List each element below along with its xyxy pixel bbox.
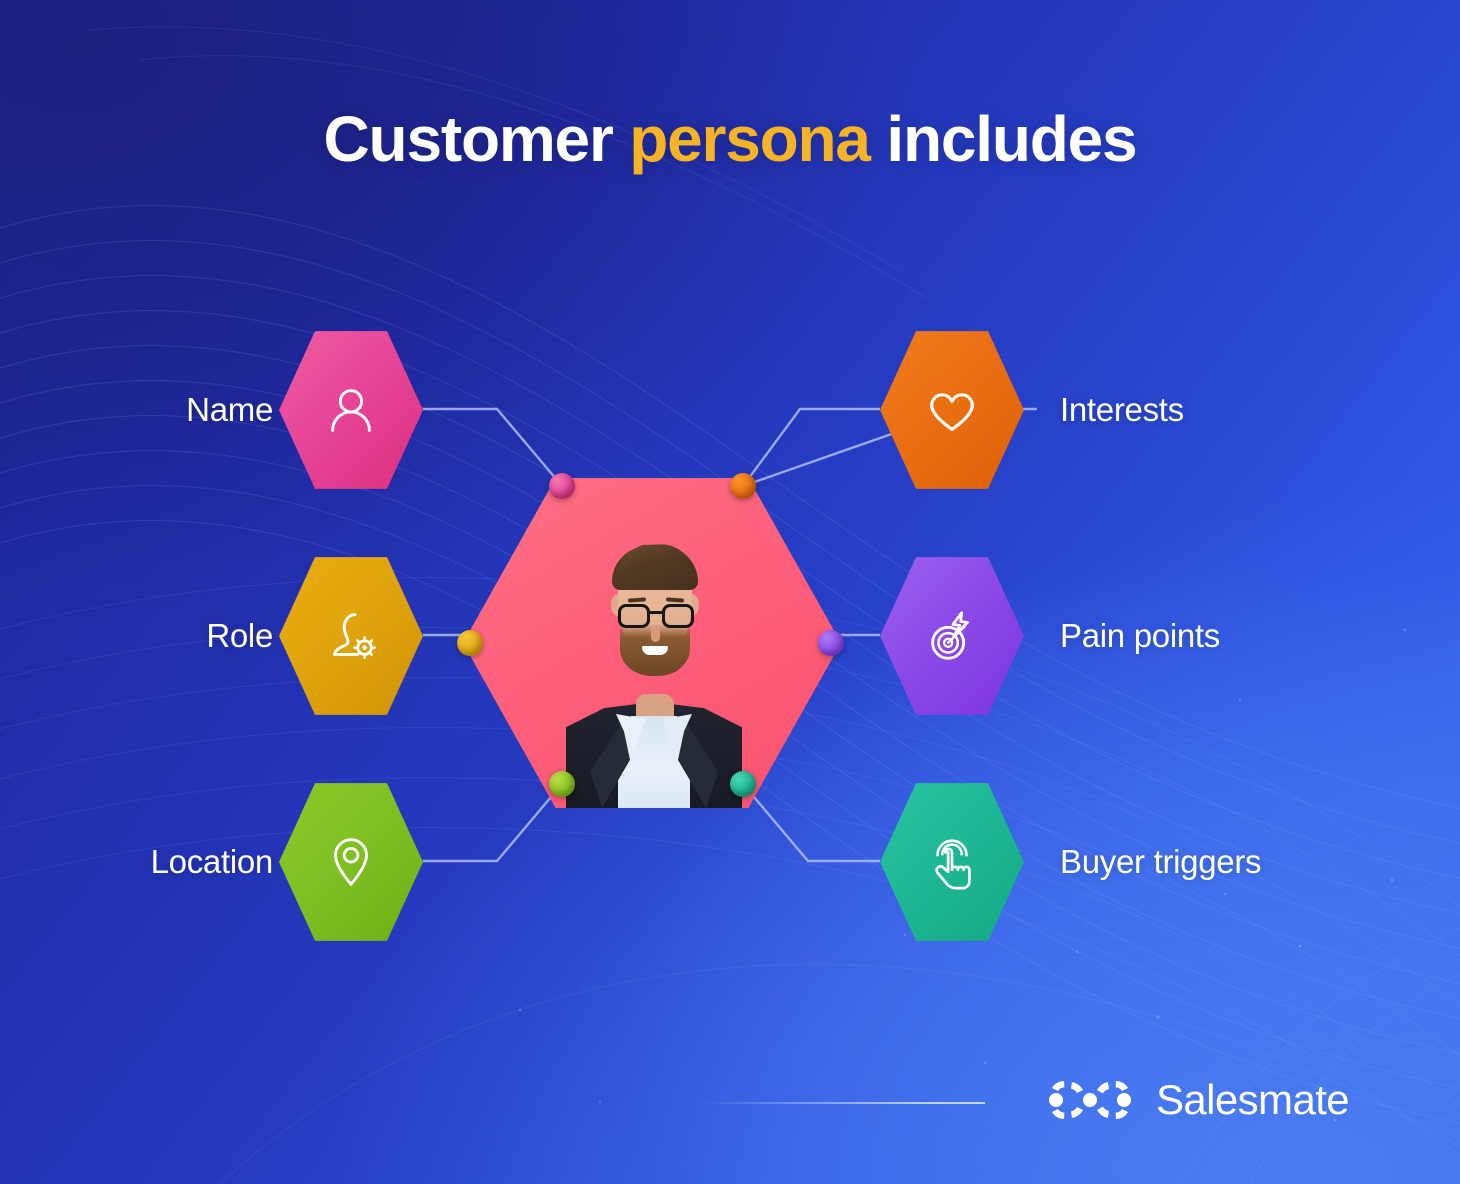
- label-role: Role: [206, 617, 273, 655]
- connector-name: [423, 409, 562, 486]
- heart-icon: [921, 379, 983, 441]
- user-gear-icon: [320, 605, 382, 667]
- salesmate-logo-icon: [1042, 1075, 1138, 1125]
- footer-divider: [700, 1102, 985, 1104]
- tap-hand-icon: [921, 831, 983, 893]
- label-name: Name: [186, 391, 273, 429]
- connector-dot-buyer: [730, 771, 756, 797]
- label-buyer-triggers: Buyer triggers: [1060, 843, 1261, 881]
- connector-dot-location: [549, 771, 575, 797]
- target-lightning-icon: [921, 605, 983, 667]
- map-pin-icon: [320, 831, 382, 893]
- label-pain-points: Pain points: [1060, 617, 1220, 655]
- connector-interests-2: [743, 409, 880, 486]
- connector-dot-name: [549, 473, 575, 499]
- brand-lockup[interactable]: Salesmate: [1042, 1075, 1349, 1125]
- user-icon: [320, 379, 382, 441]
- brand-name: Salesmate: [1156, 1076, 1349, 1124]
- connector-dot-pain: [818, 630, 844, 656]
- persona-center: [463, 478, 841, 808]
- persona-photo: [566, 494, 742, 808]
- label-location: Location: [151, 843, 273, 881]
- connector-dot-role: [457, 630, 483, 656]
- connector-dot-interests: [730, 473, 756, 499]
- footer: Salesmate: [0, 1075, 1460, 1135]
- label-interests: Interests: [1060, 391, 1184, 429]
